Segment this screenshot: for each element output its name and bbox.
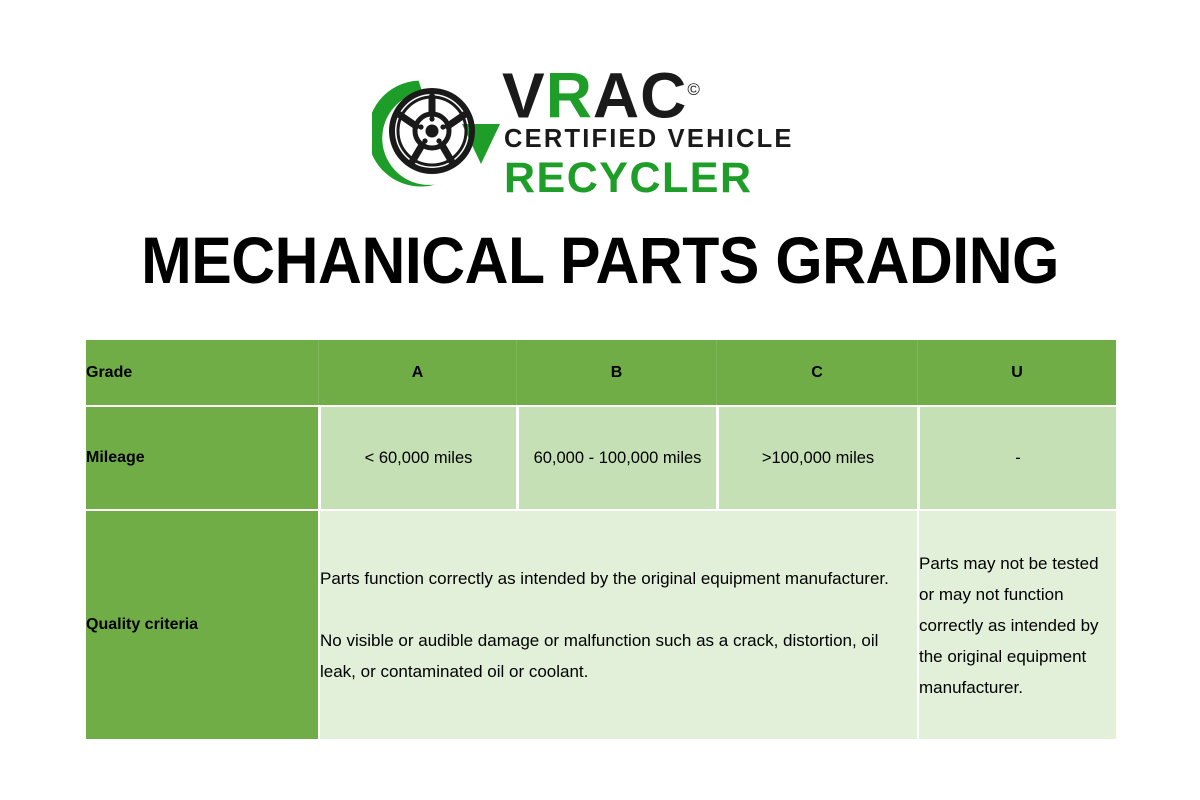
- mileage-grade-c-value: >100,000 miles: [716, 405, 917, 509]
- quality-criteria-u-value: Parts may not be tested or may not funct…: [917, 509, 1116, 739]
- table-header-row: Grade A B C U: [86, 340, 1116, 405]
- column-header-u: U: [917, 340, 1116, 405]
- table-row-quality-criteria: Quality criteria Parts function correctl…: [86, 509, 1116, 739]
- mileage-grade-b-value: 60,000 - 100,000 miles: [516, 405, 716, 509]
- quality-criteria-abc-value: Parts function correctly as intended by …: [318, 509, 917, 739]
- column-header-a: A: [318, 340, 516, 405]
- quality-criteria-abc-paragraph-1: Parts function correctly as intended by …: [320, 563, 917, 594]
- mileage-grade-u-value: -: [917, 405, 1116, 509]
- table-row-mileage: Mileage < 60,000 miles 60,000 - 100,000 …: [86, 405, 1116, 509]
- page-title: MECHANICAL PARTS GRADING: [48, 222, 1152, 298]
- wordmark-letters-ac: AC: [593, 59, 687, 131]
- vrac-wordmark: VRAC© CERTIFIED VEHICLE RECYCLER: [502, 58, 842, 198]
- vrac-logo: VRAC© CERTIFIED VEHICLE RECYCLER: [372, 58, 842, 198]
- column-header-c: C: [716, 340, 917, 405]
- wordmark-letter-v: V: [502, 59, 546, 131]
- wordmark-recycler: RECYCLER: [504, 156, 753, 200]
- copyright-icon: ©: [687, 80, 700, 99]
- mechanical-parts-grading-table: Grade A B C U Mileage < 60,000 miles 60,…: [86, 340, 1116, 739]
- wordmark-certified-vehicle: CERTIFIED VEHICLE: [504, 126, 794, 152]
- quality-criteria-abc-paragraph-2: No visible or audible damage or malfunct…: [320, 625, 917, 687]
- mileage-grade-a-value: < 60,000 miles: [318, 405, 516, 509]
- column-header-grade: Grade: [86, 340, 318, 405]
- wordmark-letter-r: R: [546, 59, 593, 131]
- quality-criteria-u-paragraph: Parts may not be tested or may not funct…: [919, 548, 1116, 703]
- recycling-wheel-icon: [372, 72, 504, 190]
- row-label-mileage: Mileage: [86, 405, 318, 509]
- wordmark-vrac: VRAC©: [502, 58, 700, 127]
- row-label-quality-criteria: Quality criteria: [86, 509, 318, 739]
- column-header-b: B: [516, 340, 716, 405]
